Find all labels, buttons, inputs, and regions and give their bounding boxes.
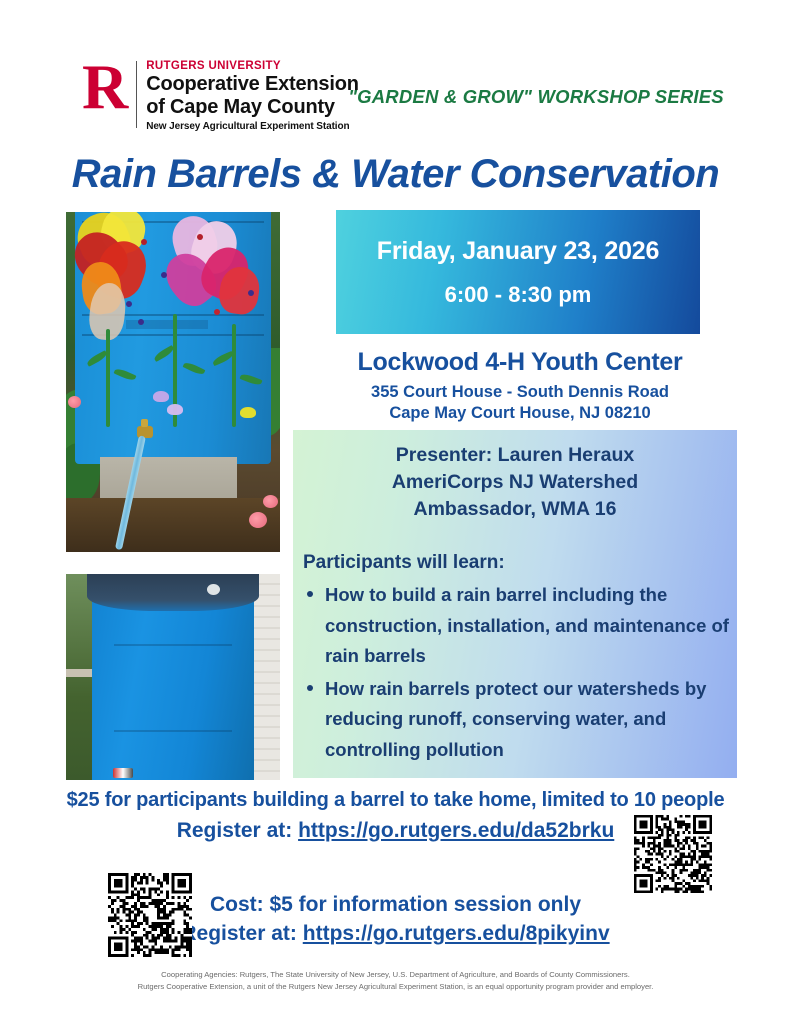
bullet-icon <box>307 591 313 597</box>
footer-line-2: Rutgers Cooperative Extension, a unit of… <box>0 981 791 993</box>
learn-heading: Participants will learn: <box>303 552 505 574</box>
list-item: How rain barrels protect our watersheds … <box>325 674 757 766</box>
painted-leaf <box>113 366 136 381</box>
event-date: Friday, January 23, 2026 <box>377 237 659 266</box>
barrel-body <box>92 586 255 780</box>
rutgers-r-icon: R <box>82 58 136 117</box>
qr-code-info-session-registration[interactable] <box>108 873 192 957</box>
list-item: How to build a rain barrel including the… <box>325 580 757 672</box>
barrel-seam <box>114 644 231 646</box>
presenter-name: Presenter: Lauren Heraux <box>293 442 737 469</box>
logo-unit-line-2: of Cape May County <box>146 97 359 119</box>
venue-address-line-1: 355 Court House - South Dennis Road <box>320 382 720 403</box>
painted-dot <box>141 239 147 245</box>
register-label: Register at: <box>177 819 293 842</box>
header: R RUTGERS UNIVERSITY Cooperative Extensi… <box>0 0 791 145</box>
barrel-valve-icon <box>113 768 133 778</box>
decorated-rain-barrel-photo <box>66 212 280 552</box>
page-title: Rain Barrels & Water Conservation <box>0 152 791 197</box>
venue-name: Lockwood 4-H Youth Center <box>320 348 720 377</box>
painted-leaf <box>239 372 262 387</box>
logo-station-name: New Jersey Agricultural Experiment Stati… <box>146 121 359 132</box>
event-time: 6:00 - 8:30 pm <box>445 282 592 308</box>
painted-leaf <box>182 361 205 377</box>
painted-stem <box>106 329 110 427</box>
butterfly-purple-2 <box>167 404 183 415</box>
barrel-body <box>75 212 272 464</box>
painted-dot <box>138 319 144 325</box>
pink-flower-3 <box>68 396 81 408</box>
presenter-block: Presenter: Lauren Heraux AmeriCorps NJ W… <box>293 442 737 523</box>
painted-dot <box>197 234 203 240</box>
logo-text-block: RUTGERS UNIVERSITY Cooperative Extension… <box>146 58 359 132</box>
list-item-text: How to build a rain barrel including the… <box>325 584 729 666</box>
logo-university-name: RUTGERS UNIVERSITY <box>146 60 359 73</box>
bullet-icon <box>307 685 313 691</box>
presenter-role: Ambassador, WMA 16 <box>293 496 737 523</box>
learn-list: How to build a rain barrel including the… <box>303 580 757 767</box>
event-date-box: Friday, January 23, 2026 6:00 - 8:30 pm <box>336 210 700 334</box>
venue-address-line-2: Cape May Court House, NJ 08210 <box>320 403 720 424</box>
qr-code-building-registration[interactable] <box>634 815 712 893</box>
register-url-info-session[interactable]: https://go.rutgers.edu/8pikyinv <box>303 922 610 945</box>
list-item-text: How rain barrels protect our watersheds … <box>325 678 706 760</box>
register-label: Register at: <box>181 922 297 945</box>
plain-blue-rain-barrel-photo <box>66 574 280 780</box>
footer-disclaimer: Cooperating Agencies: Rutgers, The State… <box>0 969 791 994</box>
barrel-mesh-cover <box>87 574 258 611</box>
workshop-series-title: "GARDEN & GROW" WORKSHOP SERIES <box>336 86 736 108</box>
presenter-org: AmeriCorps NJ Watershed <box>293 469 737 496</box>
painted-stem <box>232 324 236 427</box>
register-url-building[interactable]: https://go.rutgers.edu/da52brku <box>298 819 614 842</box>
logo-unit-line-1: Cooperative Extension <box>146 74 359 96</box>
painted-dot <box>126 301 132 307</box>
barrel-seam <box>114 730 231 732</box>
logo-divider <box>136 61 137 128</box>
rutgers-logo: R RUTGERS UNIVERSITY Cooperative Extensi… <box>82 58 359 132</box>
butterfly-yellow <box>240 407 256 418</box>
mulch-ground <box>66 498 280 552</box>
painted-dot <box>214 309 220 315</box>
venue-block: Lockwood 4-H Youth Center 355 Court Hous… <box>320 348 720 424</box>
price-line-building: $25 for participants building a barrel t… <box>0 789 791 812</box>
pink-flower-2 <box>263 495 278 508</box>
footer-line-1: Cooperating Agencies: Rutgers, The State… <box>0 969 791 981</box>
butterfly-purple <box>153 391 169 402</box>
